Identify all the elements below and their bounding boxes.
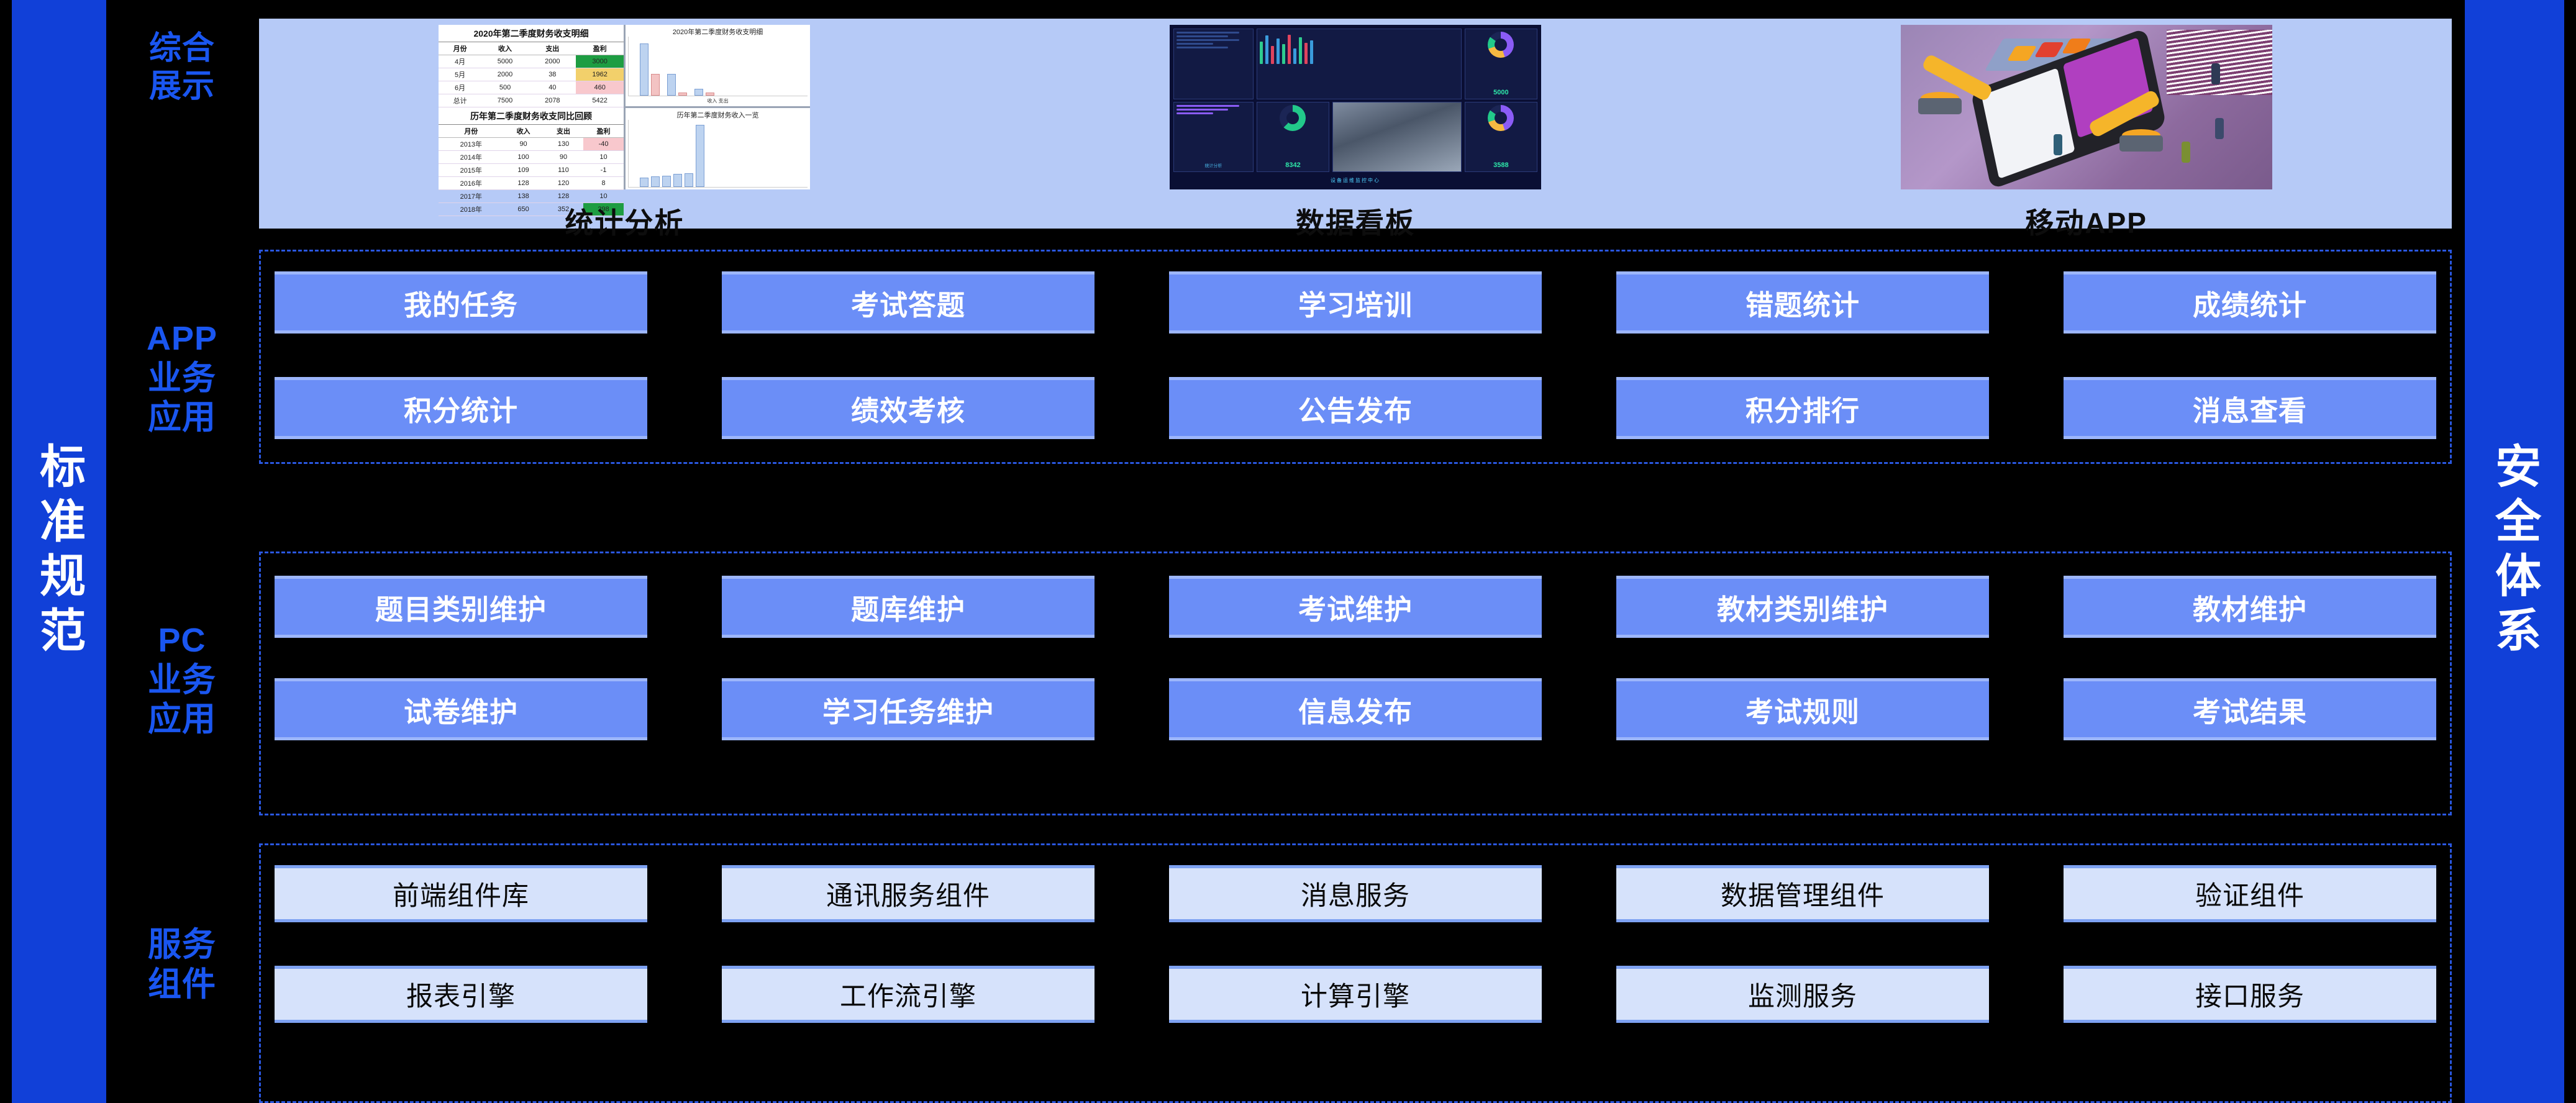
row-label-pc-line-0: PC	[111, 621, 253, 661]
robot-base-icon	[1918, 98, 1962, 114]
cell: 120	[544, 177, 583, 190]
tile-pc-exam-results[interactable]: 考试结果	[2064, 678, 2436, 740]
cell: 5422	[576, 94, 623, 107]
tile-pc-question-category-maintenance[interactable]: 题目类别维护	[275, 576, 647, 638]
cell: 40	[529, 81, 576, 94]
cell: 7500	[481, 94, 529, 107]
bar	[1271, 46, 1274, 64]
statistics-thumbnail-wrap: 2020年第二季度财务收支明细 月份 收入 支出 盈利 4月 5000 2000	[439, 25, 810, 189]
gauge-chart-icon	[1280, 105, 1306, 131]
donut-chart-icon	[1488, 105, 1514, 131]
tile-svc-verification-component[interactable]: 验证组件	[2064, 865, 2436, 922]
tile-svc-frontend-component-library[interactable]: 前端组件库	[275, 865, 647, 922]
card-caption: 统计分析	[1176, 163, 1250, 169]
showcase-item-mobile-app[interactable]: 移动APP	[1721, 19, 2452, 242]
line	[1176, 32, 1239, 34]
person-figure-icon	[2215, 118, 2224, 139]
cell: 130	[544, 138, 583, 151]
bar	[651, 74, 660, 96]
tile-app-my-tasks[interactable]: 我的任务	[275, 271, 647, 334]
tile-svc-report-engine[interactable]: 报表引擎	[275, 966, 647, 1023]
cell: 90	[503, 138, 543, 151]
mini-chart-1-title: 2020年第二季度财务收支明细	[628, 27, 808, 37]
left-banner-text: 标准规范	[32, 442, 86, 661]
cell-profit: -40	[583, 138, 624, 151]
cell: 38	[529, 68, 576, 81]
app-row-2: 积分统计 绩效考核 公告发布 积分排行 消息查看	[261, 377, 2450, 439]
bar	[694, 89, 703, 96]
dashboard-card-barchart	[1257, 29, 1462, 99]
tile-app-exam-answer[interactable]: 考试答题	[722, 271, 1095, 334]
progress-lines	[1176, 105, 1250, 114]
showcase-caption-dashboard: 数据看板	[1296, 201, 1415, 242]
pc-row-2: 试卷维护 学习任务维护 信息发布 考试规则 考试结果	[261, 678, 2450, 740]
dashboard-card-video	[1332, 102, 1462, 173]
col-header-0: 月份	[439, 42, 481, 55]
bar	[685, 173, 693, 187]
cell: 5月	[439, 68, 481, 81]
tile-app-performance-review[interactable]: 绩效考核	[722, 377, 1095, 439]
tile-pc-question-bank-maintenance[interactable]: 题库维护	[722, 576, 1095, 638]
cell: 100	[503, 151, 543, 164]
line	[1176, 43, 1213, 45]
pc-business-section: 题目类别维护 题库维护 考试维护 教材类别维护 教材维护 试卷维护 学习任务维护…	[259, 551, 2452, 815]
pc-row-1: 题目类别维护 题库维护 考试维护 教材类别维护 教材维护	[261, 576, 2450, 638]
dashboard-card-donut-bottom: 3588	[1465, 102, 1537, 173]
dark-dashboard-thumbnail: 5000 统计分析 8342	[1170, 25, 1541, 189]
statistics-table1-title: 2020年第二季度财务收支明细	[439, 25, 624, 42]
row-label-app-line-0: APP	[111, 319, 253, 359]
person-figure-icon	[2211, 63, 2220, 84]
cell: 90	[544, 151, 583, 164]
bar	[667, 74, 676, 96]
mini-chart-1-plot	[628, 37, 808, 96]
table-row: 6月 500 40 460	[439, 81, 624, 94]
tile-svc-data-management-component[interactable]: 数据管理组件	[1616, 865, 1989, 922]
tile-svc-workflow-engine[interactable]: 工作流引擎	[722, 966, 1095, 1023]
bar	[1277, 39, 1280, 64]
showcase-caption-statistics: 统计分析	[565, 201, 684, 242]
bar	[1288, 35, 1291, 64]
row-label-app-line-2: 应用	[111, 398, 253, 438]
row-label-showcase: 综合 展示	[111, 30, 253, 106]
bar	[1293, 48, 1296, 64]
bar	[1282, 44, 1285, 64]
background-stripes-decoration	[2167, 30, 2272, 95]
app-row-1: 我的任务 考试答题 学习培训 错题统计 成绩统计	[261, 271, 2450, 334]
table-row: 2014年 100 90 10	[439, 151, 624, 164]
col-header-1: 收入	[503, 125, 543, 138]
phone-screen-light	[1981, 68, 2075, 179]
cell: 2017年	[439, 190, 503, 203]
line	[1176, 112, 1213, 114]
dashboard-card-donut-top: 5000	[1465, 29, 1537, 99]
cell: 2000	[481, 68, 529, 81]
cell: 109	[503, 164, 543, 177]
bar	[1299, 37, 1302, 64]
table-header-row: 月份 收入 支出 盈利	[439, 42, 624, 55]
tile-svc-message-service[interactable]: 消息服务	[1169, 865, 1542, 922]
donut-chart-icon	[1488, 32, 1514, 58]
line	[1176, 35, 1228, 37]
cell: 2014年	[439, 151, 503, 164]
tile-pc-study-task-maintenance[interactable]: 学习任务维护	[722, 678, 1095, 740]
list-lines	[1176, 32, 1250, 48]
cell: 650	[503, 203, 543, 216]
showcase-item-statistics[interactable]: 2020年第二季度财务收支明细 月份 收入 支出 盈利 4月 5000 2000	[259, 19, 990, 242]
bar	[640, 178, 649, 187]
donut-value: 3588	[1468, 161, 1534, 169]
tile-svc-communication-service-component[interactable]: 通讯服务组件	[722, 865, 1095, 922]
bar	[651, 176, 660, 187]
bar	[696, 125, 704, 187]
cell: 总计	[439, 94, 481, 107]
row-label-pc-line-2: 应用	[111, 700, 253, 740]
showcase-item-dashboard[interactable]: 5000 统计分析 8342	[990, 19, 1721, 242]
tile-svc-monitoring-service[interactable]: 监测服务	[1616, 966, 1989, 1023]
tile-svc-calculation-engine[interactable]: 计算引擎	[1169, 966, 1542, 1023]
cell: 2078	[529, 94, 576, 107]
cell: 2015年	[439, 164, 503, 177]
cell: 2016年	[439, 177, 503, 190]
table-row: 2013年 90 130 -40	[439, 138, 624, 151]
video-feed-preview	[1333, 102, 1461, 172]
cell: 138	[503, 190, 543, 203]
cell-profit: 3000	[576, 55, 623, 68]
tile-app-points-ranking[interactable]: 积分排行	[1616, 377, 1989, 439]
bar	[1310, 40, 1313, 64]
table-row: 总计 7500 2078 5422	[439, 94, 624, 107]
right-banner-text: 安全体系	[2487, 442, 2541, 661]
bar	[706, 93, 714, 96]
cell: 2000	[529, 55, 576, 68]
cell: 8	[583, 177, 624, 190]
donut-value: 5000	[1468, 89, 1534, 96]
bar	[673, 174, 682, 187]
showcase-panel: 2020年第二季度财务收支明细 月份 收入 支出 盈利 4月 5000 2000	[259, 19, 2452, 229]
col-header-0: 月份	[439, 125, 503, 138]
cell: 2013年	[439, 138, 503, 151]
person-figure-icon	[2054, 134, 2062, 155]
robot-base-icon	[2119, 135, 2163, 152]
person-figure-icon	[2182, 142, 2190, 163]
bar	[640, 43, 649, 96]
statistics-table-1: 月份 收入 支出 盈利 4月 5000 2000 3000 5月	[439, 42, 624, 107]
mini-chart-1-legend: 收入 支出	[628, 96, 808, 104]
cell: 128	[503, 177, 543, 190]
cell: 6月	[439, 81, 481, 94]
statistics-tables-column: 2020年第二季度财务收支明细 月份 收入 支出 盈利 4月 5000 2000	[439, 25, 626, 189]
tile-pc-paper-maintenance[interactable]: 试卷维护	[275, 678, 647, 740]
statistics-table2-title: 历年第二季度财务收支同比回顾	[439, 107, 624, 125]
cell: 10	[583, 151, 624, 164]
tile-pc-material-maintenance[interactable]: 教材维护	[2064, 576, 2436, 638]
dashboard-card-progress: 统计分析	[1173, 102, 1254, 173]
row-label-showcase-line-1: 展示	[111, 68, 253, 106]
line	[1176, 39, 1239, 41]
row-label-service: 服务 组件	[111, 925, 253, 1004]
cell-profit: 460	[576, 81, 623, 94]
tile-pc-information-publish[interactable]: 信息发布	[1169, 678, 1542, 740]
bar-chart	[1260, 32, 1459, 64]
dashboard-footer-title: 设备运维监控中心	[1173, 175, 1537, 186]
cell: 5000	[481, 55, 529, 68]
col-header-1: 收入	[481, 42, 529, 55]
statistics-sheet-thumbnail: 2020年第二季度财务收支明细 月份 收入 支出 盈利 4月 5000 2000	[439, 25, 810, 189]
service-components-section: 前端组件库 通讯服务组件 消息服务 数据管理组件 验证组件 报表引擎 工作流引擎…	[259, 843, 2452, 1103]
bar	[1260, 42, 1263, 64]
service-row-2: 报表引擎 工作流引擎 计算引擎 监测服务 接口服务	[261, 966, 2450, 1023]
app-business-section: 我的任务 考试答题 学习培训 错题统计 成绩统计 积分统计 绩效考核 公告发布 …	[259, 250, 2452, 464]
service-row-1: 前端组件库 通讯服务组件 消息服务 数据管理组件 验证组件	[261, 865, 2450, 922]
dashboard-row-top: 5000	[1173, 29, 1537, 99]
dashboard-row-bottom: 统计分析 8342 3588	[1173, 102, 1537, 173]
dashboard-thumbnail-wrap: 5000 统计分析 8342	[1170, 25, 1541, 189]
row-label-service-line-0: 服务	[111, 925, 253, 965]
left-vertical-banner: 标准规范	[12, 0, 106, 1103]
dashboard-card-list	[1173, 29, 1254, 99]
tile-app-wrong-question-stats[interactable]: 错题统计	[1616, 271, 1989, 334]
table-header-row: 月份 收入 支出 盈利	[439, 125, 624, 138]
col-header-2: 支出	[529, 42, 576, 55]
tile-app-announcement-publish[interactable]: 公告发布	[1169, 377, 1542, 439]
cell: -1	[583, 164, 624, 177]
row-label-app-line-1: 业务	[111, 359, 253, 399]
cell-profit: 1962	[576, 68, 623, 81]
table-row: 2016年 128 120 8	[439, 177, 624, 190]
cell: 500	[481, 81, 529, 94]
dashboard-card-gauge: 8342	[1257, 102, 1329, 173]
row-label-pc: PC 业务 应用	[111, 621, 253, 740]
cell: 2018年	[439, 203, 503, 216]
bar	[678, 93, 687, 96]
bar	[1304, 43, 1308, 64]
tile-pc-exam-maintenance[interactable]: 考试维护	[1169, 576, 1542, 638]
table-row: 5月 2000 38 1962	[439, 68, 624, 81]
right-vertical-banner: 安全体系	[2465, 0, 2564, 1103]
mobile-app-thumbnail-wrap	[1901, 25, 2272, 189]
mini-bar-chart-yearly: 历年第二季度财务收入一览	[626, 106, 811, 189]
mobile-app-illustration-thumbnail	[1901, 25, 2272, 189]
tile-svc-interface-service[interactable]: 接口服务	[2064, 966, 2436, 1023]
row-label-app: APP 业务 应用	[111, 319, 253, 438]
tile-app-points-stats[interactable]: 积分统计	[275, 377, 647, 439]
tile-pc-material-category-maintenance[interactable]: 教材类别维护	[1616, 576, 1989, 638]
col-header-2: 支出	[544, 125, 583, 138]
bar	[1265, 35, 1268, 64]
bar	[662, 176, 671, 187]
statistics-charts-column: 2020年第二季度财务收支明细 收入 支出 历年第二季度财务收入一览	[626, 25, 811, 189]
row-label-pc-line-1: 业务	[111, 661, 253, 701]
tile-app-study-training[interactable]: 学习培训	[1169, 271, 1542, 334]
cell: 4月	[439, 55, 481, 68]
col-header-3: 盈利	[576, 42, 623, 55]
line	[1176, 105, 1239, 107]
row-label-showcase-line-0: 综合	[111, 30, 253, 68]
tile-app-score-stats[interactable]: 成绩统计	[2064, 271, 2436, 334]
line	[1176, 109, 1228, 111]
row-label-service-line-1: 组件	[111, 965, 253, 1005]
line	[1176, 47, 1228, 48]
gauge-value: 8342	[1260, 161, 1326, 169]
mini-chart-2-plot	[628, 120, 808, 188]
mini-chart-2-title: 历年第二季度财务收入一览	[628, 110, 808, 120]
table-row: 2015年 109 110 -1	[439, 164, 624, 177]
cell: 110	[544, 164, 583, 177]
mini-bar-chart-quarterly: 2020年第二季度财务收支明细 收入 支出	[626, 25, 811, 106]
tile-app-message-view[interactable]: 消息查看	[2064, 377, 2436, 439]
tile-pc-exam-rules[interactable]: 考试规则	[1616, 678, 1989, 740]
showcase-caption-mobile-app: 移动APP	[2025, 201, 2147, 242]
col-header-3: 盈利	[583, 125, 624, 138]
table-row: 4月 5000 2000 3000	[439, 55, 624, 68]
